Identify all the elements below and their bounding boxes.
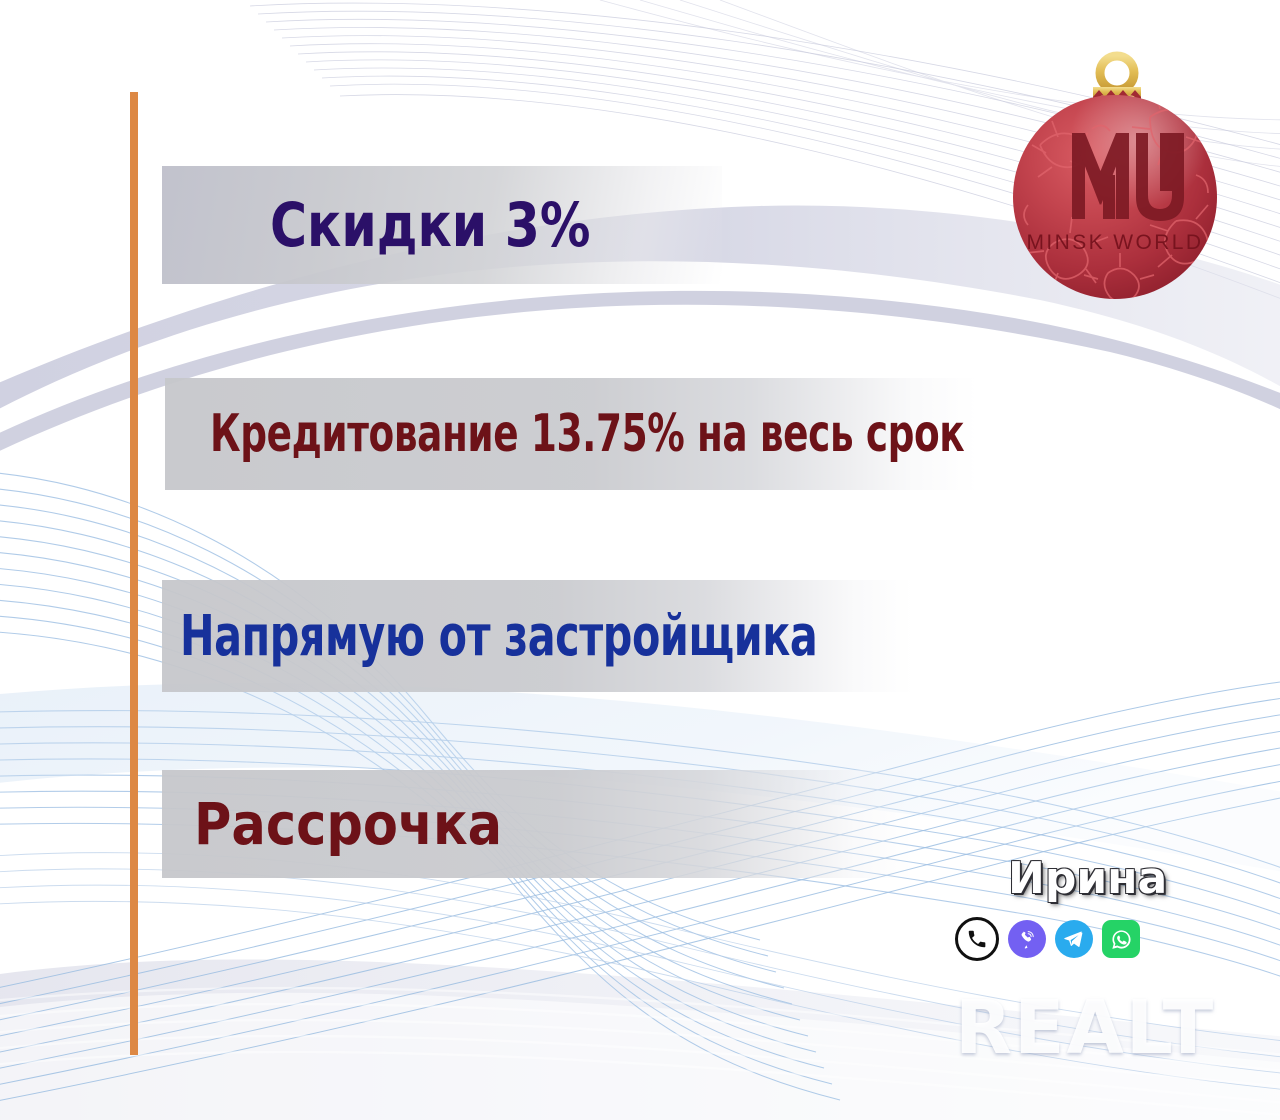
- offer-plate-credit: Кредитование 13.75% на весь срок: [165, 378, 977, 490]
- offer-text-direct: Напрямую от застройщика: [180, 604, 817, 669]
- telegram-icon[interactable]: [1055, 920, 1093, 958]
- offer-plate-direct: Напрямую от застройщика: [162, 580, 914, 692]
- offer-plate-installment: Рассрочка: [162, 770, 914, 878]
- christmas-ornament-logo: MINSK WORLD: [1000, 25, 1230, 310]
- brand-name-text: MINSK WORLD: [1027, 231, 1204, 254]
- agent-name: Ирина: [1008, 853, 1167, 904]
- viber-icon[interactable]: [1008, 920, 1046, 958]
- telegram-glyph: [1062, 927, 1086, 951]
- phone-icon[interactable]: [955, 917, 999, 961]
- phone-glyph: [966, 928, 988, 950]
- whatsapp-glyph: [1109, 927, 1134, 952]
- poster-canvas: Скидки 3% Кредитование 13.75% на весь ср…: [0, 0, 1280, 1120]
- offer-text-installment: Рассрочка: [194, 790, 502, 858]
- whatsapp-icon[interactable]: [1102, 920, 1140, 958]
- viber-glyph: [1015, 927, 1039, 951]
- accent-vertical-rule: [130, 92, 138, 1055]
- contact-icons-row: [955, 917, 1140, 961]
- realt-watermark: REALT: [955, 985, 1215, 1071]
- offer-plate-discount: Скидки 3%: [162, 166, 722, 284]
- offer-text-credit: Кредитование 13.75% на весь срок: [210, 404, 964, 464]
- offer-text-discount: Скидки 3%: [270, 190, 590, 261]
